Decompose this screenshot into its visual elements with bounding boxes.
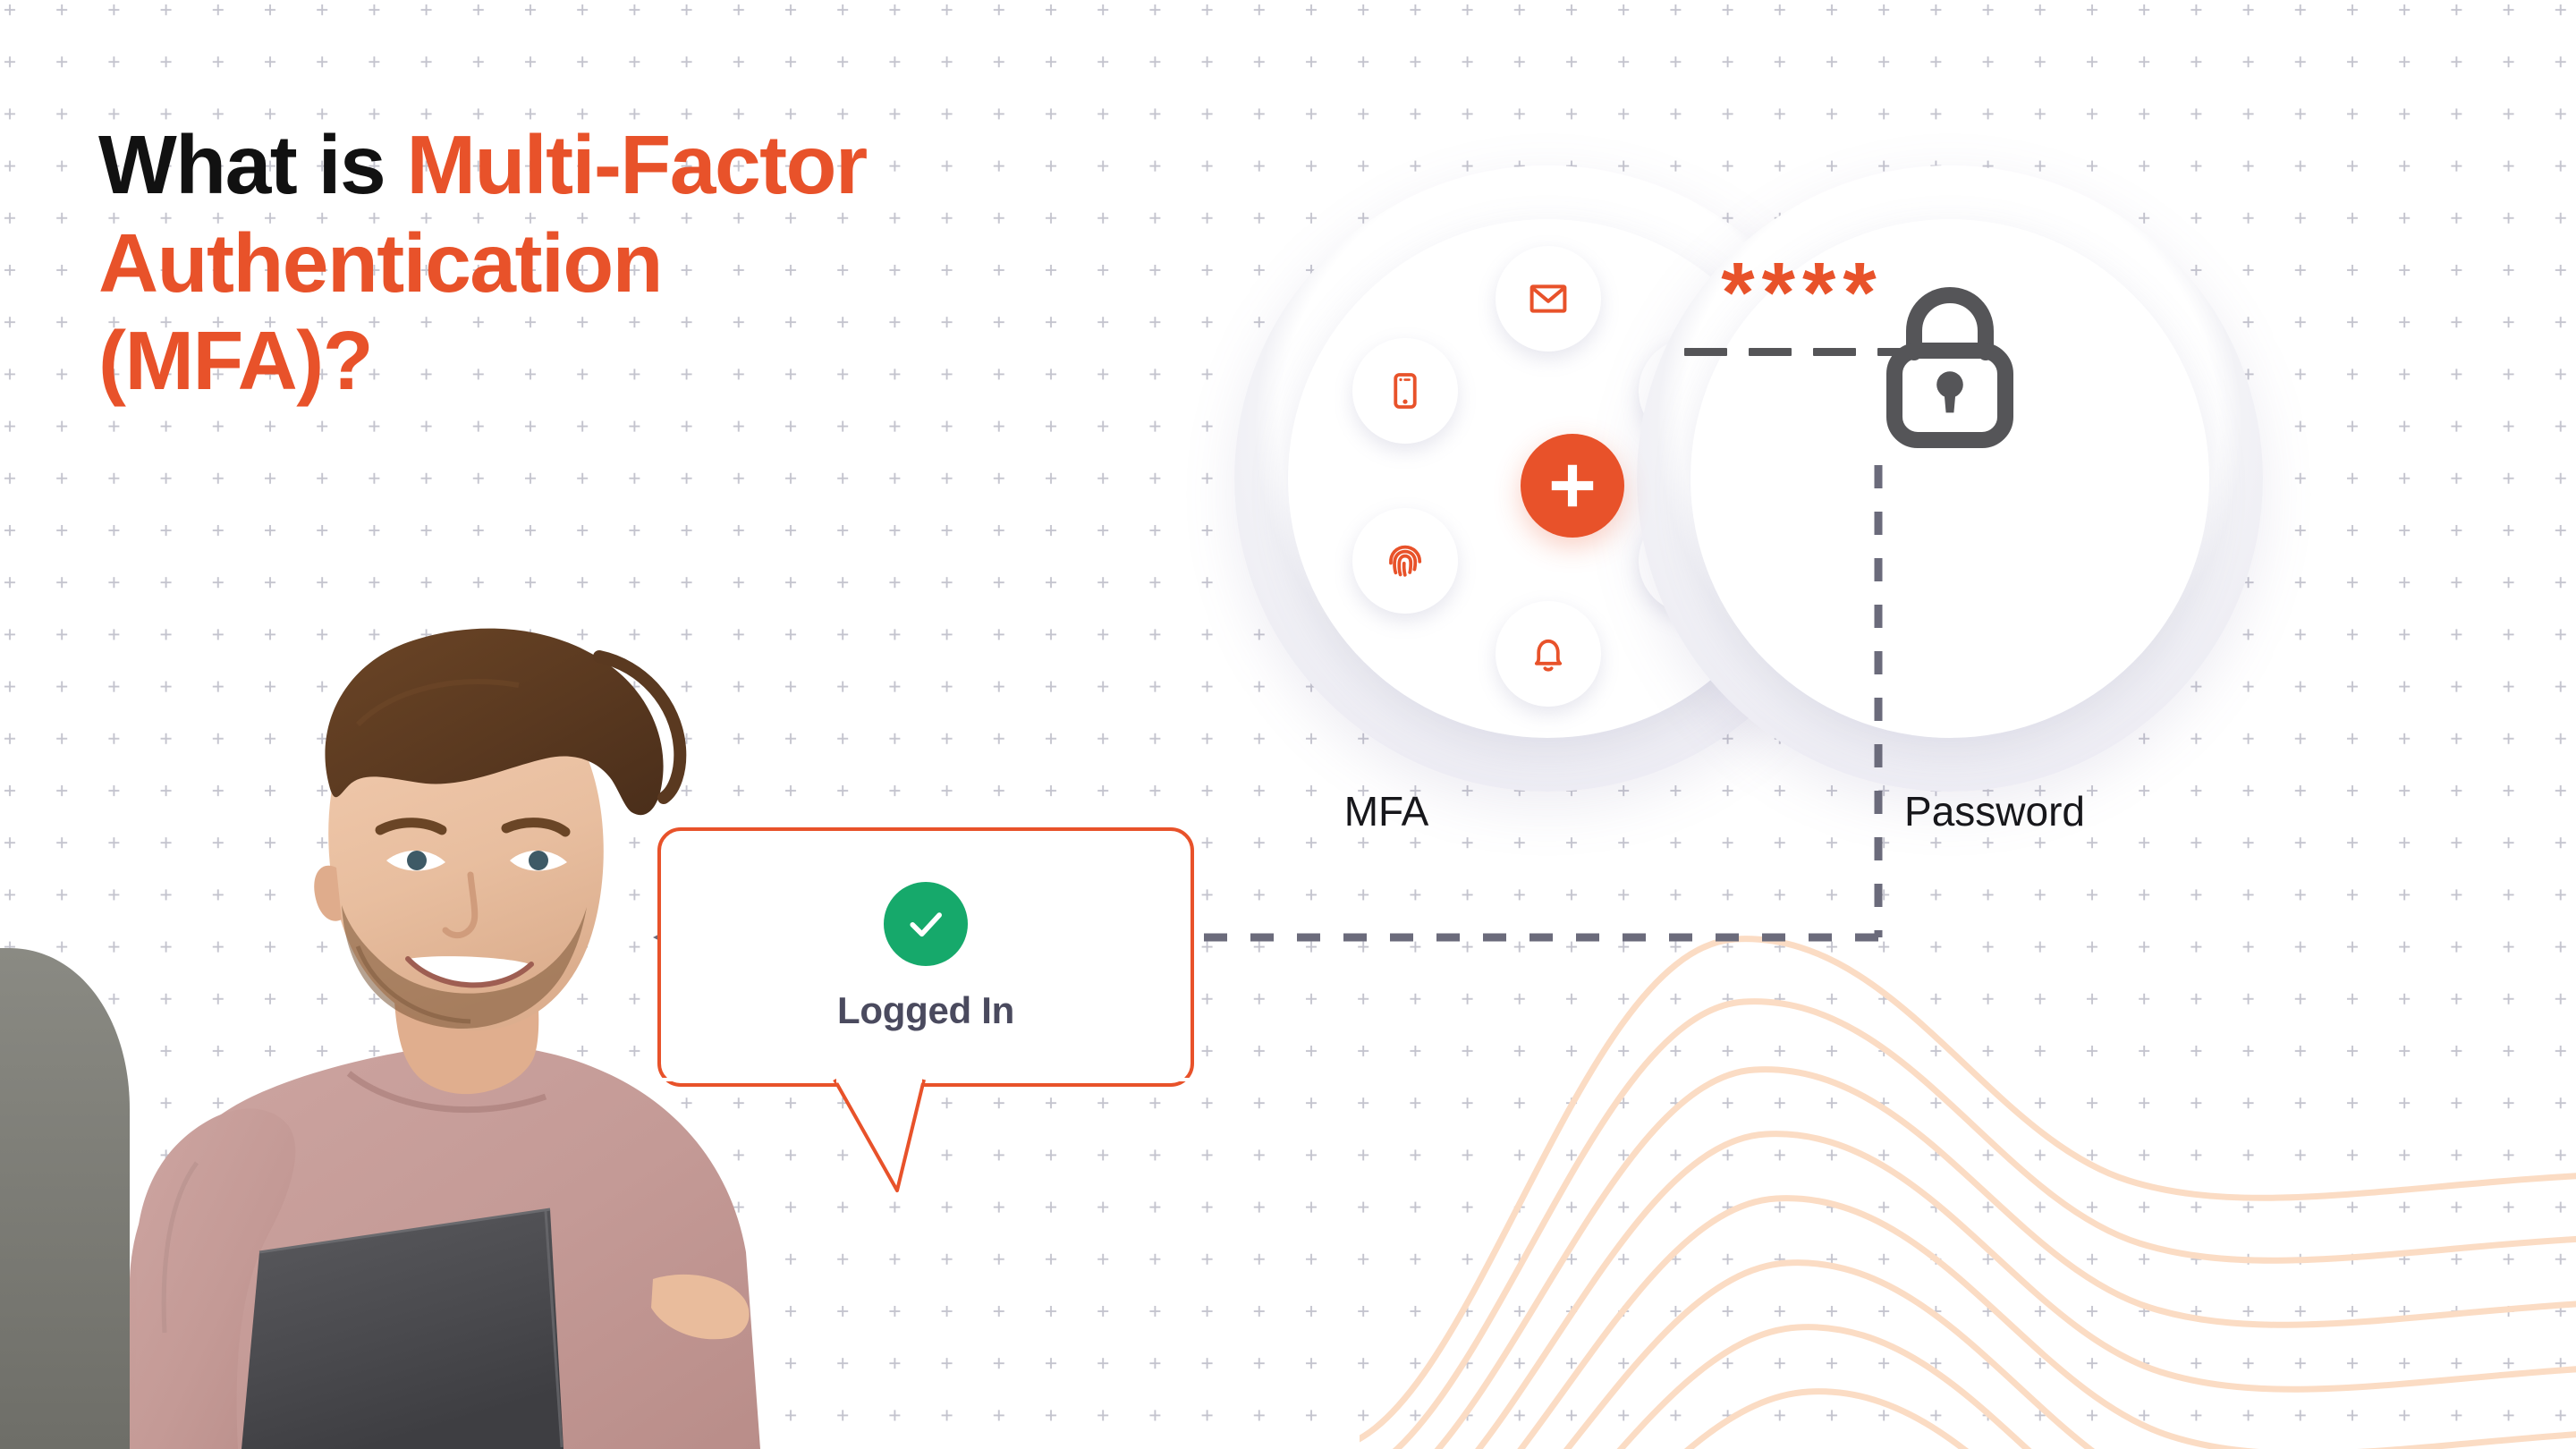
title-highlight-3: (MFA)? — [98, 312, 1261, 411]
logged-in-callout: Logged In — [657, 827, 1194, 1087]
title-highlight-1: Multi-Factor — [407, 118, 867, 211]
password-underscores — [1668, 341, 1936, 364]
status-badge — [884, 882, 968, 966]
password-mask: **** — [1659, 259, 1945, 364]
callout-tail — [657, 1078, 1194, 1194]
check-icon — [902, 901, 949, 947]
password-mask-characters: **** — [1659, 259, 1945, 328]
mail-icon — [1527, 277, 1570, 320]
logged-in-label: Logged In — [837, 989, 1014, 1032]
title-highlight-2: Authentication — [98, 216, 662, 309]
title-prefix: What is — [98, 118, 407, 211]
mfa-icon-mail[interactable] — [1496, 246, 1601, 352]
smartphone-icon — [1385, 370, 1426, 411]
page-title: What is Multi-Factor Authentication (MFA… — [98, 116, 1261, 411]
